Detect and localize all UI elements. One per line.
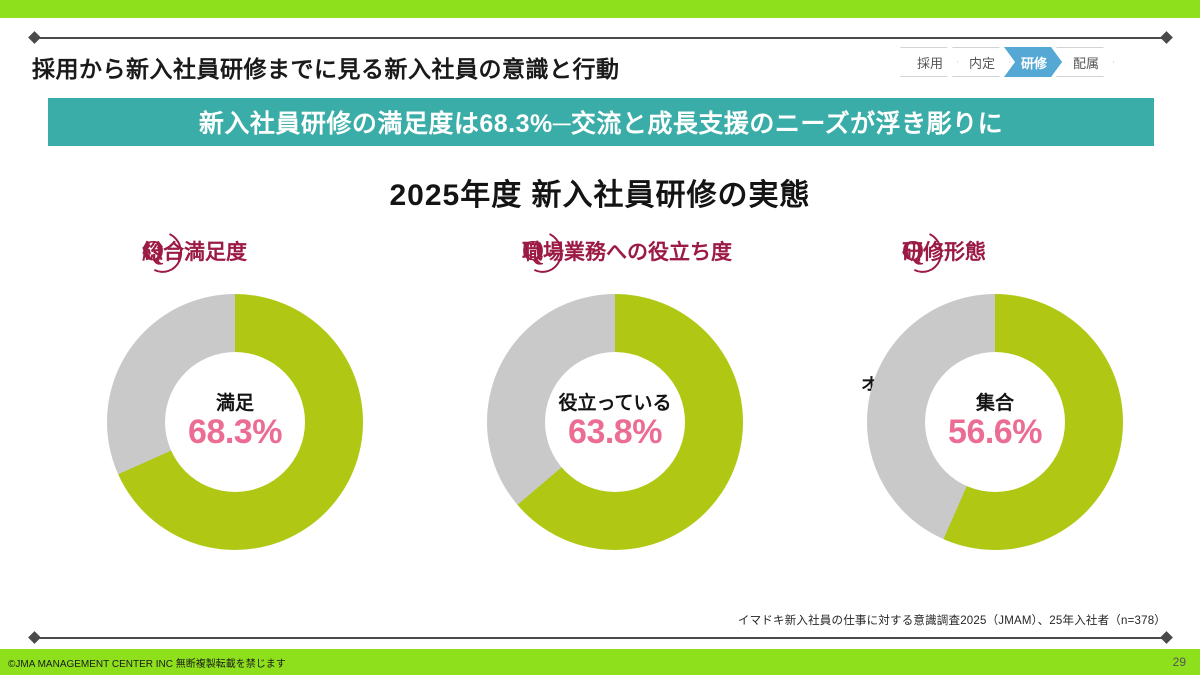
donut-center-label-2: 役立っている	[558, 394, 671, 415]
diamond-marker-bottom-right	[1160, 631, 1173, 644]
headline-banner: 新入社員研修の満足度は68.3%─交流と成長支援のニーズが浮き彫りに	[48, 98, 1154, 146]
donut-chart-2: 役立っている 63.8%	[487, 294, 743, 550]
page-number: 29	[1173, 655, 1186, 669]
breadcrumb-step-haizoku[interactable]: 配属	[1056, 47, 1114, 77]
donut-center-3: 集合 56.6%	[925, 352, 1065, 492]
donut-center-label-3: 集合	[976, 394, 1014, 415]
q-letter-glyph: Q	[516, 230, 550, 272]
donut-center-1: 満足 68.3%	[165, 352, 305, 492]
slide-canvas: 採用から新入社員研修までに見る新入社員の意識と行動 採用 内定 研修 配属 新入…	[0, 0, 1200, 675]
breadcrumb-step-naitei[interactable]: 内定	[952, 47, 1010, 77]
slide-title: 採用から新入社員研修までに見る新入社員の意識と行動	[32, 50, 620, 84]
diamond-marker-top-right	[1160, 31, 1173, 44]
question-mark-icon: Q	[136, 230, 182, 274]
charts-region: Q 総合満足度 満足 68.3% Q 職場業務への役立ち度	[0, 228, 1200, 598]
top-green-bar	[0, 0, 1200, 18]
breadcrumb-step-kenshu[interactable]: 研修	[1004, 47, 1062, 77]
question-header-1: Q 総合満足度	[70, 228, 400, 274]
q-letter-glyph: Q	[896, 230, 930, 272]
question-header-3: Q 研修形態	[830, 228, 1160, 274]
source-note: イマドキ新入社員の仕事に対する意識調査2025（JMAM）、25年入社者（n=3…	[738, 612, 1166, 628]
footer-bar: ©JMA MANAGEMENT CENTER INC 無断複製転載を禁じます 2…	[0, 649, 1200, 675]
chart-column-1: Q 総合満足度 満足 68.3%	[70, 228, 400, 550]
donut-chart-1: 満足 68.3%	[107, 294, 363, 550]
question-header-2: Q 職場業務への役立ち度	[450, 228, 780, 274]
chart-column-3: Q 研修形態 オンライン 集合 56.6%	[830, 228, 1160, 550]
question-mark-icon: Q	[896, 230, 942, 274]
donut-center-value-3: 56.6%	[948, 415, 1042, 451]
donut-chart-3: オンライン 集合 56.6%	[867, 294, 1123, 550]
headline-banner-text: 新入社員研修の満足度は68.3%─交流と成長支援のニーズが浮き彫りに	[199, 104, 1003, 140]
donut-center-value-1: 68.3%	[188, 415, 282, 451]
breadcrumb: 採用 内定 研修 配属	[900, 46, 1108, 78]
page-title: 2025年度 新入社員研修の実態	[0, 170, 1200, 214]
donut-center-2: 役立っている 63.8%	[545, 352, 685, 492]
bottom-divider-line	[34, 637, 1168, 639]
donut-center-label-1: 満足	[216, 394, 254, 415]
footer-copyright: ©JMA MANAGEMENT CENTER INC 無断複製転載を禁じます	[8, 655, 286, 670]
diamond-marker-top-left	[28, 31, 41, 44]
chart-column-2: Q 職場業務への役立ち度 役立っている 63.8%	[450, 228, 780, 550]
question-mark-icon: Q	[516, 230, 562, 274]
q-letter-glyph: Q	[136, 230, 170, 272]
diamond-marker-bottom-left	[28, 631, 41, 644]
breadcrumb-step-saiyo[interactable]: 採用	[900, 47, 958, 77]
donut-center-value-2: 63.8%	[568, 415, 662, 451]
top-divider-line	[34, 37, 1168, 39]
